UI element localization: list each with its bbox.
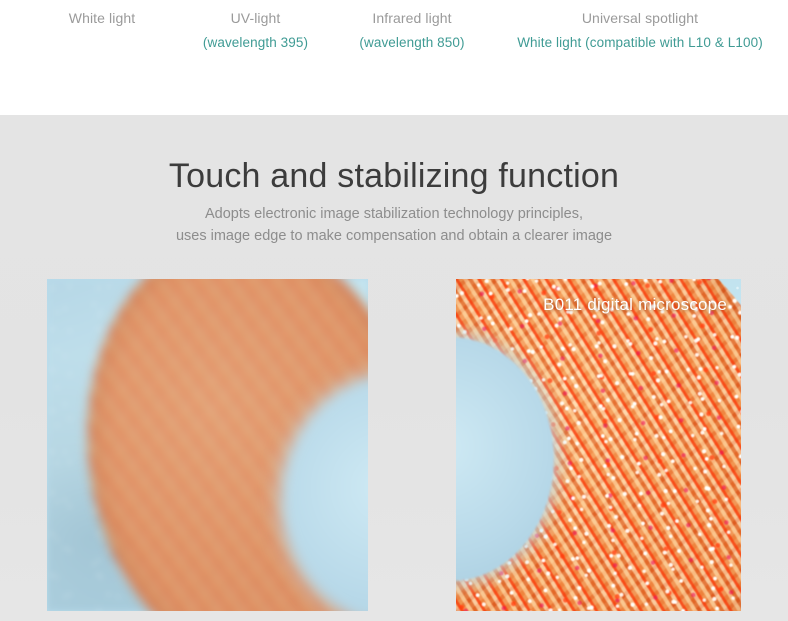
feature-description-line-2: uses image edge to make compensation and… [0, 225, 788, 247]
feature-description-line-1: Adopts electronic image stabilization te… [0, 203, 788, 225]
light-spec-subtitle: (wavelength 395) [168, 33, 343, 53]
stabilization-feature-section: Touch and stabilizing function Adopts el… [0, 115, 788, 621]
light-spec-title: Universal spotlight [492, 8, 788, 28]
unstabilized-sample-image [47, 279, 368, 611]
light-spec-column-uv: UV-light (wavelength 395) [168, 8, 343, 53]
stabilized-sample-image: B011 digital microscope [456, 279, 741, 611]
light-spec-title: UV-light [168, 8, 343, 28]
light-spec-column-universal: Universal spotlight White light (compati… [492, 8, 788, 53]
light-spec-column-infrared: Infrared light (wavelength 850) [332, 8, 492, 53]
sample-caption: B011 digital microscope [543, 295, 727, 315]
sample-comparison: B011 digital microscope [7, 263, 781, 595]
light-spec-subtitle: (wavelength 850) [332, 33, 492, 53]
light-spec-title: Infrared light [332, 8, 492, 28]
light-spec-subtitle: White light (compatible with L10 & L100) [492, 33, 788, 53]
feature-heading: Touch and stabilizing function [0, 157, 788, 196]
feature-description: Adopts electronic image stabilization te… [0, 203, 788, 248]
light-spec-strip: White light UV-light (wavelength 395) In… [0, 0, 788, 115]
